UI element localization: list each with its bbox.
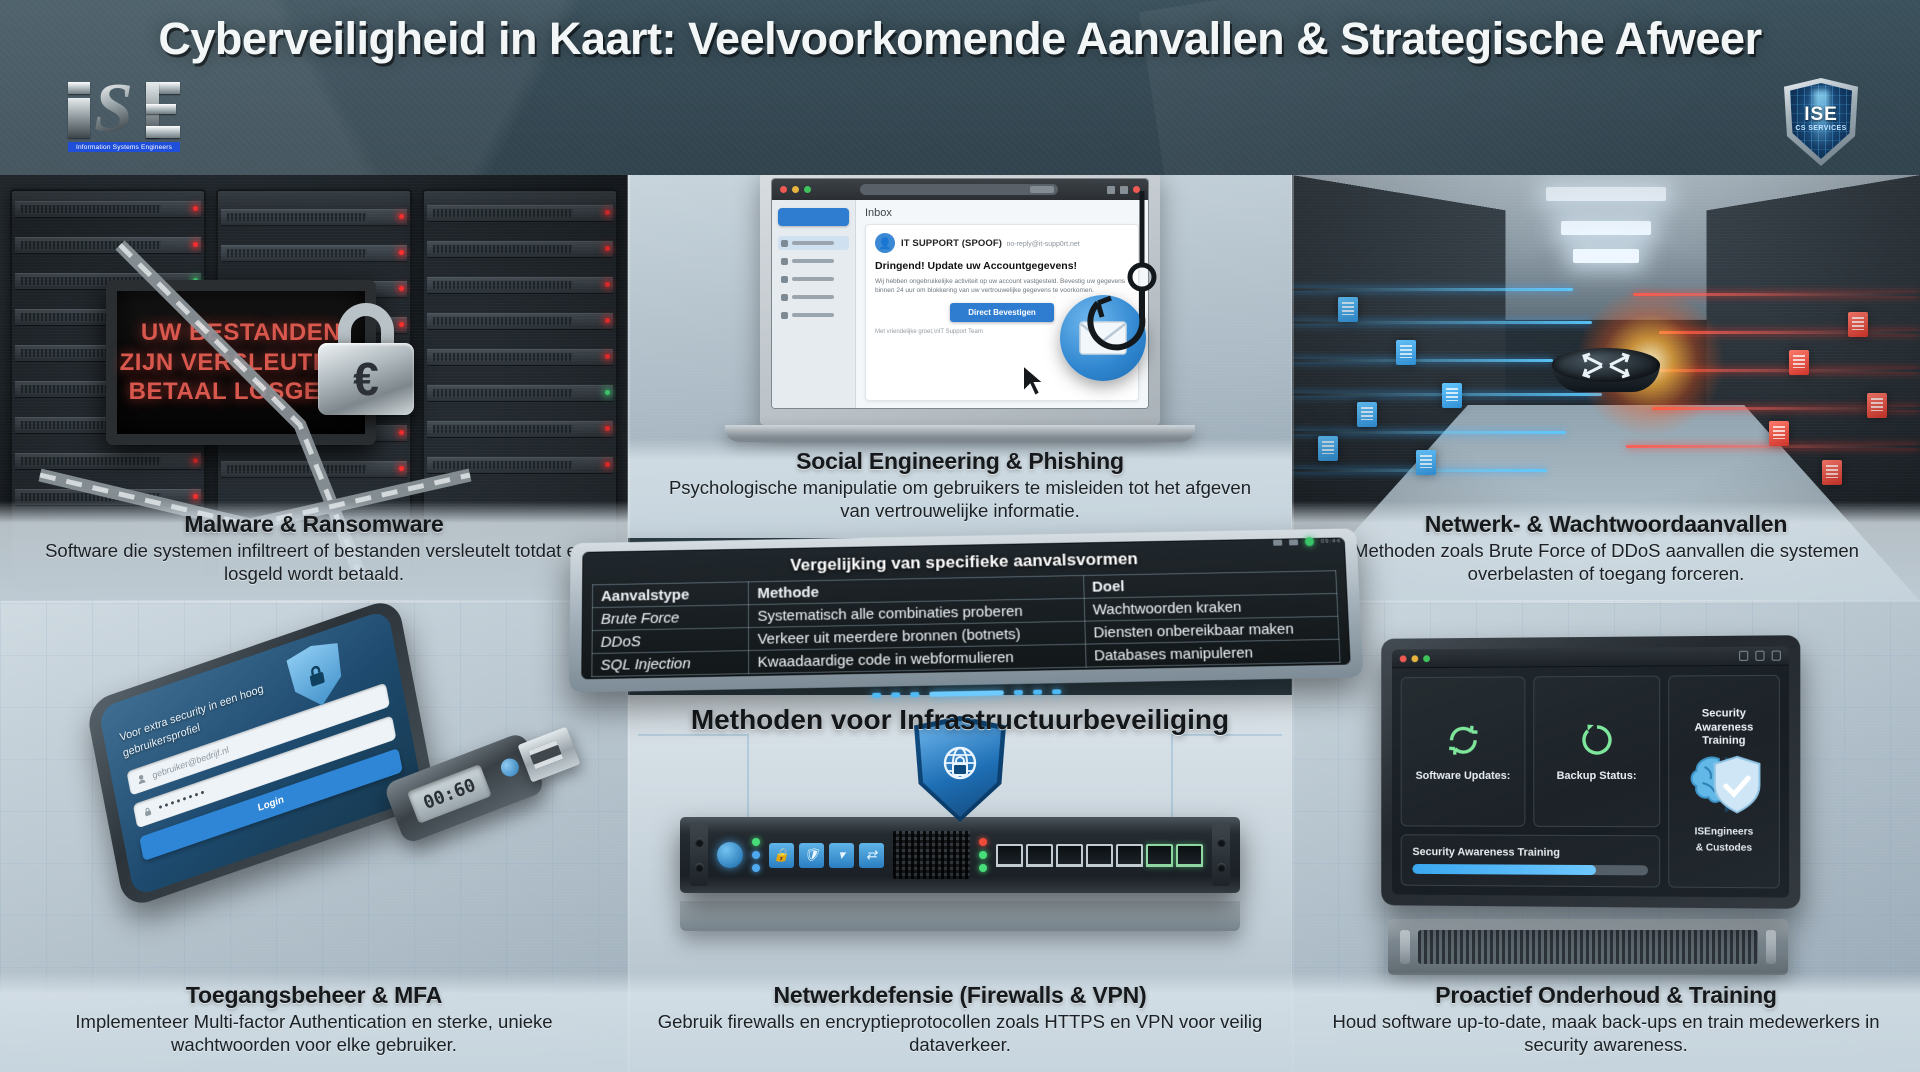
- panel-social-engineering-phishing: Inbox 👤 IT SUPPORT (SPOOF) no-reply@it-s…: [628, 175, 1292, 538]
- compose-button[interactable]: [778, 208, 849, 226]
- table-statusbar: 09:44: [1273, 537, 1341, 546]
- table-bezel: 09:44 Vergelijking van specifieke aanval…: [569, 528, 1363, 692]
- trash-icon: [781, 312, 788, 319]
- caption-maintenance-heading: Proactief Onderhoud & Training: [1318, 982, 1894, 1009]
- status-led: [1305, 537, 1314, 546]
- close-icon[interactable]: [1400, 655, 1407, 662]
- mouse-cursor-icon: [1020, 363, 1050, 401]
- sidebar-item-trash[interactable]: [778, 308, 849, 322]
- logo-i-top-bar: [68, 82, 90, 94]
- user-icon: [136, 773, 146, 785]
- caption-firewall-body: Gebruik firewalls en encryptieprotocolle…: [654, 1011, 1266, 1056]
- shield-badge-subtext: CS SERVICES: [1784, 125, 1858, 132]
- ise-wordmark-logo: S Information Systems Engineers: [68, 82, 180, 152]
- maximize-icon[interactable]: [804, 186, 811, 193]
- close-icon[interactable]: [780, 186, 787, 193]
- ethernet-port: [1116, 844, 1143, 867]
- comparison-table-device: 09:44 Vergelijking van specifieke aanval…: [569, 528, 1363, 692]
- caption-mfa-heading: Toegangsbeheer & MFA: [26, 982, 602, 1009]
- router-device-icon: [1552, 348, 1660, 402]
- token-shield-icon: [498, 756, 521, 779]
- divider-right: [1292, 600, 1920, 603]
- logo-e-bottom-bar: [146, 126, 180, 138]
- security-awareness-training-card[interactable]: Security Awareness Training ISEngineers: [1668, 675, 1780, 889]
- caption-firewall-heading: Netwerkdefensie (Firewalls & VPN): [654, 982, 1266, 1009]
- sidebar-item-drafts[interactable]: [778, 290, 849, 304]
- caption-maintenance-body: Houd software up-to-date, maak back-ups …: [1318, 1011, 1894, 1056]
- server-handle: [1400, 930, 1410, 964]
- address-bar[interactable]: [860, 184, 1058, 195]
- logo-e-middle-bar: [146, 104, 176, 114]
- training-progress-label: Security Awareness Training: [1412, 846, 1648, 859]
- power-button[interactable]: [717, 842, 743, 868]
- logo-s-letter: S: [94, 80, 144, 140]
- globe-lock-icon: [938, 743, 982, 787]
- ethernet-port: [1026, 844, 1053, 867]
- print-icon[interactable]: [1739, 651, 1748, 661]
- sent-icon: [781, 276, 788, 283]
- page-title: Cyberveiligheid in Kaart: Veelvoorkomend…: [0, 13, 1920, 65]
- panel-access-control-mfa: Voor extra security in een hoog gebruike…: [0, 601, 628, 1072]
- ethernet-port: [1146, 844, 1173, 867]
- dashboard-monitor: Software Updates: Backup Status:: [1381, 635, 1800, 909]
- progress-bar: [1412, 864, 1648, 875]
- email-sender: IT SUPPORT (SPOOF): [901, 238, 1002, 249]
- status-leds-right: [979, 838, 987, 872]
- minimize-icon[interactable]: [792, 186, 799, 193]
- backup-restore-icon: [1579, 721, 1615, 762]
- ethernet-port: [996, 844, 1023, 867]
- sidebar-item-starred[interactable]: [778, 254, 849, 268]
- caption-mfa-body: Implementeer Multi-factor Authentication…: [26, 1011, 602, 1056]
- training-card-title: Security Awareness Training: [1675, 708, 1772, 749]
- cell-goal: Databases manipuleren: [1085, 639, 1340, 667]
- caption-phishing-body: Psychologische manipulatie om gebruikers…: [654, 477, 1266, 522]
- ethernet-port: [1086, 844, 1113, 867]
- progress-bar-fill: [1412, 864, 1595, 875]
- caption-malware: Malware & Ransomware Software die system…: [0, 501, 628, 601]
- caption-malware-body: Software die systemen infiltreert of bes…: [26, 540, 602, 585]
- function-icon-tiles[interactable]: 🔒 🛡 ▾ ⇄: [769, 843, 884, 868]
- divider-left: [0, 600, 628, 603]
- table-screen: 09:44 Vergelijking van specifieke aanval…: [581, 537, 1350, 679]
- dashboard-screen: Software Updates: Backup Status:: [1392, 646, 1789, 897]
- comparison-table: Aanvalstype Methode Doel Brute Force Sys…: [591, 570, 1340, 677]
- infographic-stage: Cyberveiligheid in Kaart: Veelvoorkomend…: [0, 0, 1920, 1072]
- dashboard-left-column: Software Updates: Backup Status:: [1401, 676, 1660, 888]
- filter-icon[interactable]: ▾: [829, 843, 854, 868]
- ise-letterforms: S: [68, 82, 180, 138]
- ise-shield-badge: ISE CS SERVICES: [1784, 78, 1858, 166]
- shield-badge-text: ISE: [1784, 104, 1858, 126]
- sidebar-item-sent[interactable]: [778, 272, 849, 286]
- email-cta-button[interactable]: Direct Bevestigen: [950, 303, 1054, 322]
- caption-firewall: Netwerkdefensie (Firewalls & VPN) Gebrui…: [628, 972, 1292, 1072]
- sidebar-item-inbox[interactable]: [778, 236, 849, 250]
- training-brand-line1: ISEngineers: [1695, 826, 1754, 839]
- ventilation-grille: [893, 831, 970, 879]
- password-mask: ••••••••: [158, 786, 208, 814]
- rack-server-unit: [1388, 919, 1788, 975]
- network-arrows-icon: [1552, 348, 1660, 382]
- star-icon: [781, 258, 788, 265]
- firewall-appliance: 🔒 🛡 ▾ ⇄: [680, 817, 1240, 893]
- kpi-backup-status-label: Backup Status:: [1557, 769, 1637, 781]
- vpn-icon[interactable]: ⇄: [859, 843, 884, 868]
- draft-icon: [781, 294, 788, 301]
- caption-malware-heading: Malware & Ransomware: [26, 511, 602, 538]
- training-brand-line2: & Custodes: [1696, 843, 1752, 856]
- cell-attack-type: DDoS: [592, 628, 749, 654]
- server-ventilation: [1418, 930, 1758, 964]
- padlock-icon: €: [318, 303, 414, 415]
- ethernet-port-group: [996, 844, 1203, 867]
- shield-icon[interactable]: 🛡: [799, 843, 824, 868]
- training-progress-card[interactable]: Security Awareness Training: [1401, 834, 1660, 887]
- mid-section-heading: Methoden voor Infrastructuurbeveiliging: [628, 704, 1292, 736]
- refresh-icon: [1445, 722, 1480, 763]
- header-banner: Cyberveiligheid in Kaart: Veelvoorkomend…: [0, 0, 1920, 175]
- panel-malware-ransomware: UW BESTANDEN ZIJN VERSLEUTELD BETAAL LOS…: [0, 175, 628, 601]
- kpi-backup-status[interactable]: Backup Status:: [1533, 676, 1660, 828]
- token-code-display: 00:60: [407, 764, 492, 824]
- rack-ear-right: [1212, 824, 1230, 886]
- ethernet-port: [1056, 844, 1083, 867]
- column-header-attack-type: Aanvalstype: [592, 582, 748, 608]
- cell-attack-type: Brute Force: [592, 605, 749, 631]
- caption-mfa: Toegangsbeheer & MFA Implementeer Multi-…: [0, 972, 628, 1072]
- cell-attack-type: SQL Injection: [592, 651, 749, 677]
- rack-ear-left: [690, 824, 708, 886]
- caption-maintenance: Proactief Onderhoud & Training Houd soft…: [1292, 972, 1920, 1072]
- minimize-icon[interactable]: [1411, 655, 1418, 662]
- appliance-shadow-base: [680, 901, 1240, 931]
- kpi-software-updates-label: Software Updates:: [1416, 770, 1511, 782]
- caption-network: Netwerk- & Wachtwoordaanvallen Methoden …: [1292, 501, 1920, 601]
- laptop-device: Inbox 👤 IT SUPPORT (SPOOF) no-reply@it-s…: [760, 175, 1160, 442]
- logo-i-stem: [68, 98, 90, 138]
- caption-phishing: Social Engineering & Phishing Psychologi…: [628, 438, 1292, 538]
- lock-icon: [143, 806, 153, 818]
- ransom-line-1: UW BESTANDEN: [141, 318, 341, 348]
- panel-icon[interactable]: [1772, 651, 1781, 661]
- panel-network-defense-firewall-vpn: 🔒 🛡 ▾ ⇄ Netwerkdefensie (F: [628, 695, 1292, 1072]
- fishing-hook-icon: [1082, 191, 1172, 371]
- inbox-icon: [781, 240, 788, 247]
- dashboard-titlebar: [1392, 646, 1789, 668]
- caption-phishing-heading: Social Engineering & Phishing: [654, 448, 1266, 475]
- lock-icon[interactable]: 🔒: [769, 843, 794, 868]
- brain-shield-icon: [1684, 752, 1763, 822]
- email-address: no-reply@it-supp0rt.net: [1006, 241, 1079, 248]
- caption-network-body: Methoden zoals Brute Force of DDoS aanva…: [1318, 540, 1894, 585]
- ethernet-port: [1176, 844, 1203, 867]
- window-icon[interactable]: [1755, 651, 1764, 661]
- status-leds-left: [752, 838, 760, 872]
- avatar: 👤: [875, 233, 895, 253]
- kpi-software-updates[interactable]: Software Updates:: [1401, 676, 1526, 826]
- panel-proactive-maintenance-training: Software Updates: Backup Status:: [1292, 601, 1920, 1072]
- panel-network-password-attacks: Netwerk- & Wachtwoordaanvallen Methoden …: [1292, 175, 1920, 601]
- maximize-icon[interactable]: [1423, 655, 1430, 662]
- caption-network-heading: Netwerk- & Wachtwoordaanvallen: [1318, 511, 1894, 538]
- dashboard-grid: Software Updates: Backup Status:: [1392, 666, 1789, 898]
- padlock-body: €: [318, 343, 414, 415]
- server-handle: [1766, 930, 1776, 964]
- mail-sidebar: [772, 200, 856, 408]
